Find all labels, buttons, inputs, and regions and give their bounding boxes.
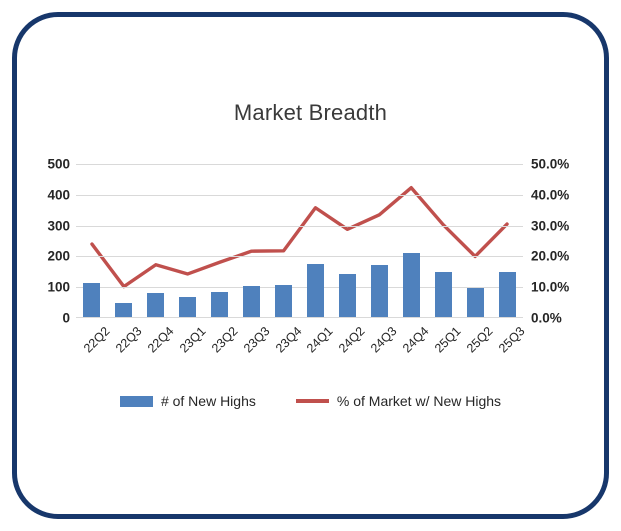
plot-area bbox=[76, 164, 523, 318]
x-tick-23Q4: 23Q4 bbox=[272, 324, 304, 356]
y-left-tick-500: 500 bbox=[10, 157, 70, 172]
y-right-tick-0.0pct: 0.0% bbox=[531, 311, 603, 326]
bar-22Q3 bbox=[115, 303, 132, 318]
x-tick-23Q1: 23Q1 bbox=[177, 324, 209, 356]
gridline bbox=[76, 256, 523, 257]
y-left-tick-0: 0 bbox=[10, 311, 70, 326]
chart-screenshot: Market Breadth 0100200300400500 0.0%10.0… bbox=[0, 0, 621, 531]
bar-24Q4 bbox=[403, 253, 420, 318]
bar-23Q2 bbox=[211, 292, 228, 318]
bar-22Q4 bbox=[147, 293, 164, 318]
line-swatch-icon bbox=[296, 399, 329, 403]
gridline bbox=[76, 164, 523, 165]
legend-item-line: % of Market w/ New Highs bbox=[296, 393, 501, 409]
x-tick-25Q3: 25Q3 bbox=[496, 324, 528, 356]
gridline bbox=[76, 287, 523, 288]
legend-item-bars: # of New Highs bbox=[120, 393, 256, 409]
y-axis-left: 0100200300400500 bbox=[8, 0, 70, 531]
y-left-tick-400: 400 bbox=[10, 187, 70, 202]
y-right-tick-50.0pct: 50.0% bbox=[531, 157, 603, 172]
bar-24Q1 bbox=[307, 264, 324, 318]
x-tick-25Q1: 25Q1 bbox=[432, 324, 464, 356]
bar-25Q2 bbox=[467, 288, 484, 318]
x-tick-22Q3: 22Q3 bbox=[113, 324, 145, 356]
bar-23Q4 bbox=[275, 285, 292, 318]
x-axis-labels: 22Q222Q322Q423Q123Q223Q323Q424Q124Q224Q3… bbox=[76, 320, 523, 380]
x-tick-25Q2: 25Q2 bbox=[464, 324, 496, 356]
x-tick-24Q1: 24Q1 bbox=[304, 324, 336, 356]
bar-25Q1 bbox=[435, 272, 452, 318]
y-axis-right: 0.0%10.0%20.0%30.0%40.0%50.0% bbox=[531, 0, 605, 531]
bar-25Q3 bbox=[499, 272, 516, 319]
chart-title: Market Breadth bbox=[0, 100, 621, 126]
y-right-tick-30.0pct: 30.0% bbox=[531, 218, 603, 233]
bar-23Q1 bbox=[179, 297, 196, 318]
y-right-tick-20.0pct: 20.0% bbox=[531, 249, 603, 264]
legend-label-line: % of Market w/ New Highs bbox=[337, 393, 501, 409]
x-tick-22Q4: 22Q4 bbox=[145, 324, 177, 356]
y-left-tick-100: 100 bbox=[10, 280, 70, 295]
line-series-svg bbox=[76, 164, 523, 318]
x-tick-23Q2: 23Q2 bbox=[209, 324, 241, 356]
x-axis-baseline bbox=[76, 317, 523, 318]
y-left-tick-200: 200 bbox=[10, 249, 70, 264]
y-right-tick-10.0pct: 10.0% bbox=[531, 280, 603, 295]
x-tick-24Q3: 24Q3 bbox=[368, 324, 400, 356]
gridline bbox=[76, 226, 523, 227]
x-tick-24Q2: 24Q2 bbox=[336, 324, 368, 356]
legend-label-bars: # of New Highs bbox=[161, 393, 256, 409]
bar-swatch-icon bbox=[120, 396, 153, 407]
bar-24Q3 bbox=[371, 265, 388, 318]
bar-24Q2 bbox=[339, 274, 356, 318]
x-tick-22Q2: 22Q2 bbox=[81, 324, 113, 356]
y-right-tick-40.0pct: 40.0% bbox=[531, 187, 603, 202]
bar-23Q3 bbox=[243, 286, 260, 318]
x-tick-23Q3: 23Q3 bbox=[241, 324, 273, 356]
gridline bbox=[76, 195, 523, 196]
y-left-tick-300: 300 bbox=[10, 218, 70, 233]
bar-22Q2 bbox=[83, 283, 100, 318]
chart-legend: # of New Highs % of Market w/ New Highs bbox=[0, 393, 621, 409]
x-tick-24Q4: 24Q4 bbox=[400, 324, 432, 356]
